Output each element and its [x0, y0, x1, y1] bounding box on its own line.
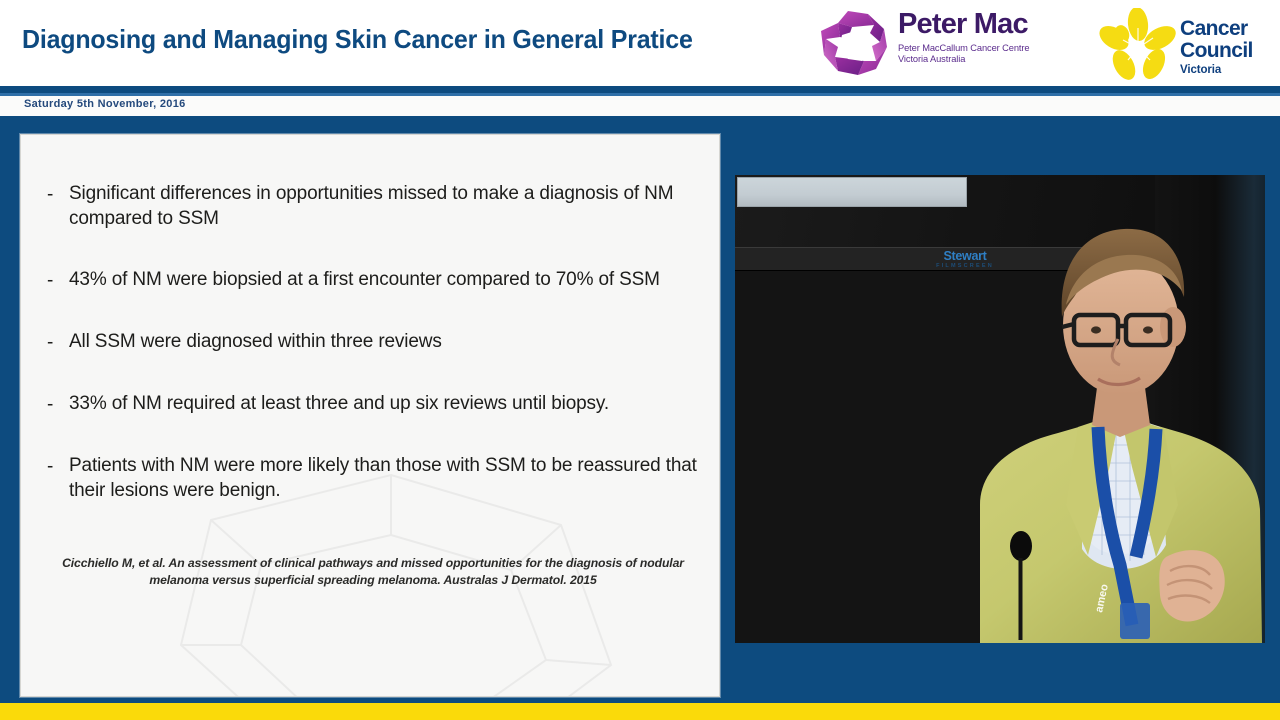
header-rule-bottom: [0, 116, 1280, 125]
bullet-text: Significant differences in opportunities…: [69, 181, 703, 231]
list-item: - Patients with NM were more likely than…: [47, 453, 703, 503]
daffodil-icon: [1098, 8, 1178, 80]
bullet-text: All SSM were diagnosed within three revi…: [69, 329, 703, 354]
petermac-subtitle-1: Peter MacCallum Cancer Centre: [898, 43, 1073, 53]
citation-text: Cicchiello M, et al. An assessment of cl…: [49, 555, 697, 590]
petermac-polygon-icon: [818, 9, 890, 79]
list-item: - 33% of NM required at least three and …: [47, 391, 703, 417]
list-item: - Significant differences in opportuniti…: [47, 181, 703, 231]
date-label: Saturday 5th November, 2016: [24, 98, 186, 110]
bullet-text: Patients with NM were more likely than t…: [69, 453, 703, 503]
bullet-text: 33% of NM required at least three and up…: [69, 391, 703, 416]
cancer-council-line-2: Council: [1180, 40, 1253, 62]
bullet-marker: -: [47, 329, 69, 355]
presentation-viewer: Diagnosing and Managing Skin Cancer in G…: [0, 0, 1280, 720]
wall-light-panel: [737, 177, 967, 207]
bullet-marker: -: [47, 267, 69, 293]
bullet-list: - Significant differences in opportuniti…: [47, 181, 703, 540]
microphone-icon: [1007, 530, 1035, 640]
page-header: Diagnosing and Managing Skin Cancer in G…: [0, 0, 1280, 86]
page-title: Diagnosing and Managing Skin Cancer in G…: [22, 24, 693, 55]
petermac-subtitle-2: Victoria Australia: [898, 54, 1073, 64]
bullet-marker: -: [47, 391, 69, 417]
petermac-logo: Peter Mac Peter MacCallum Cancer Centre …: [818, 6, 1073, 82]
cancer-council-logo: Cancer Council Victoria: [1098, 8, 1268, 80]
video-player[interactable]: Stewart FILMSCREEN: [735, 175, 1265, 643]
footer-accent-bar: [0, 703, 1280, 720]
list-item: - 43% of NM were biopsied at a first enc…: [47, 267, 703, 293]
header-rule-top: [0, 86, 1280, 93]
slide-panel[interactable]: - Significant differences in opportuniti…: [20, 134, 720, 697]
list-item: - All SSM were diagnosed within three re…: [47, 329, 703, 355]
bullet-text: 43% of NM were biopsied at a first encou…: [69, 267, 703, 292]
bullet-marker: -: [47, 453, 69, 479]
cancer-council-line-3: Victoria: [1180, 64, 1253, 76]
date-bar: [0, 96, 1280, 116]
petermac-wordmark: Peter Mac: [898, 10, 1073, 40]
bullet-marker: -: [47, 181, 69, 207]
cancer-council-line-1: Cancer: [1180, 18, 1253, 40]
